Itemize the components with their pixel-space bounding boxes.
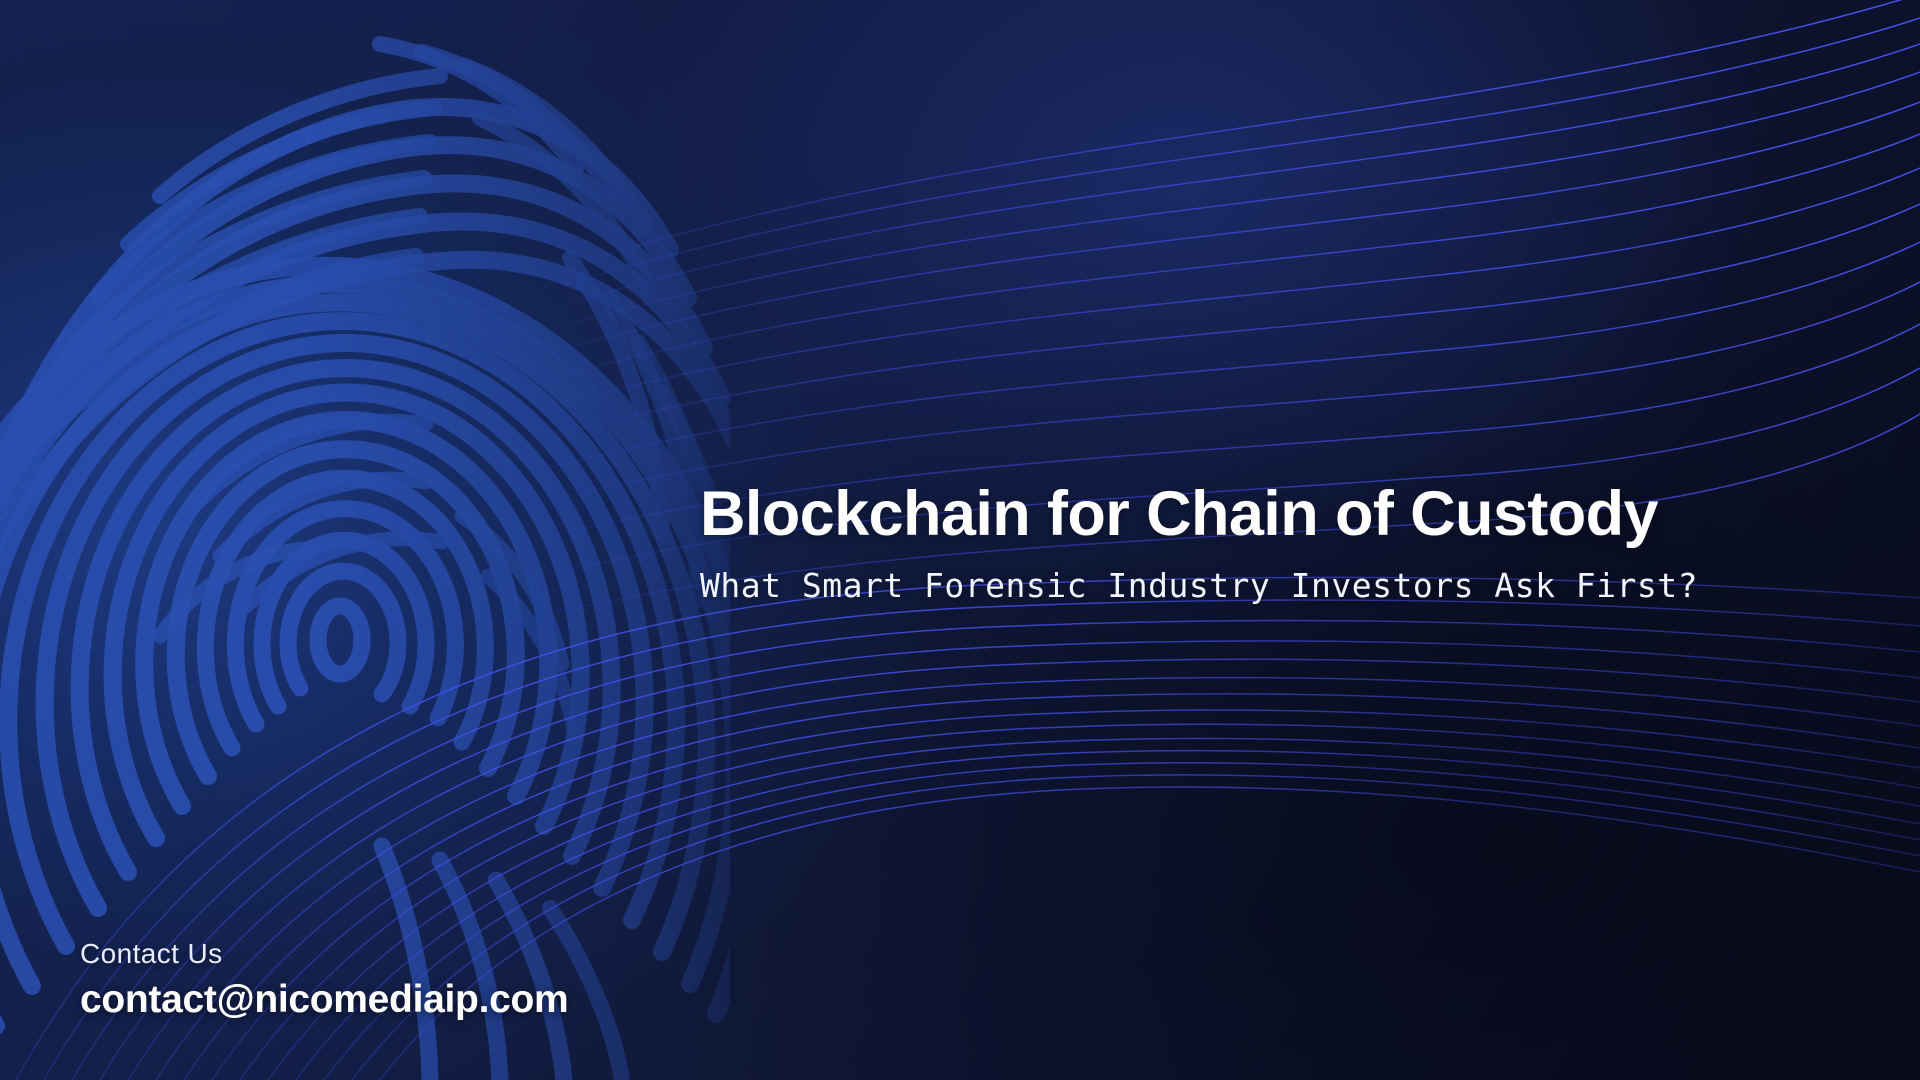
page-subtitle: What Smart Forensic Industry Investors A… [700,562,1800,611]
banner-root: Blockchain for Chain of Custody What Sma… [0,0,1920,1080]
contact-label: Contact Us [80,938,568,970]
page-title: Blockchain for Chain of Custody [700,482,1880,548]
headline-block: Blockchain for Chain of Custody What Sma… [700,482,1880,610]
contact-email[interactable]: contact@nicomediaip.com [80,978,568,1022]
contact-block: Contact Us contact@nicomediaip.com [80,938,568,1022]
